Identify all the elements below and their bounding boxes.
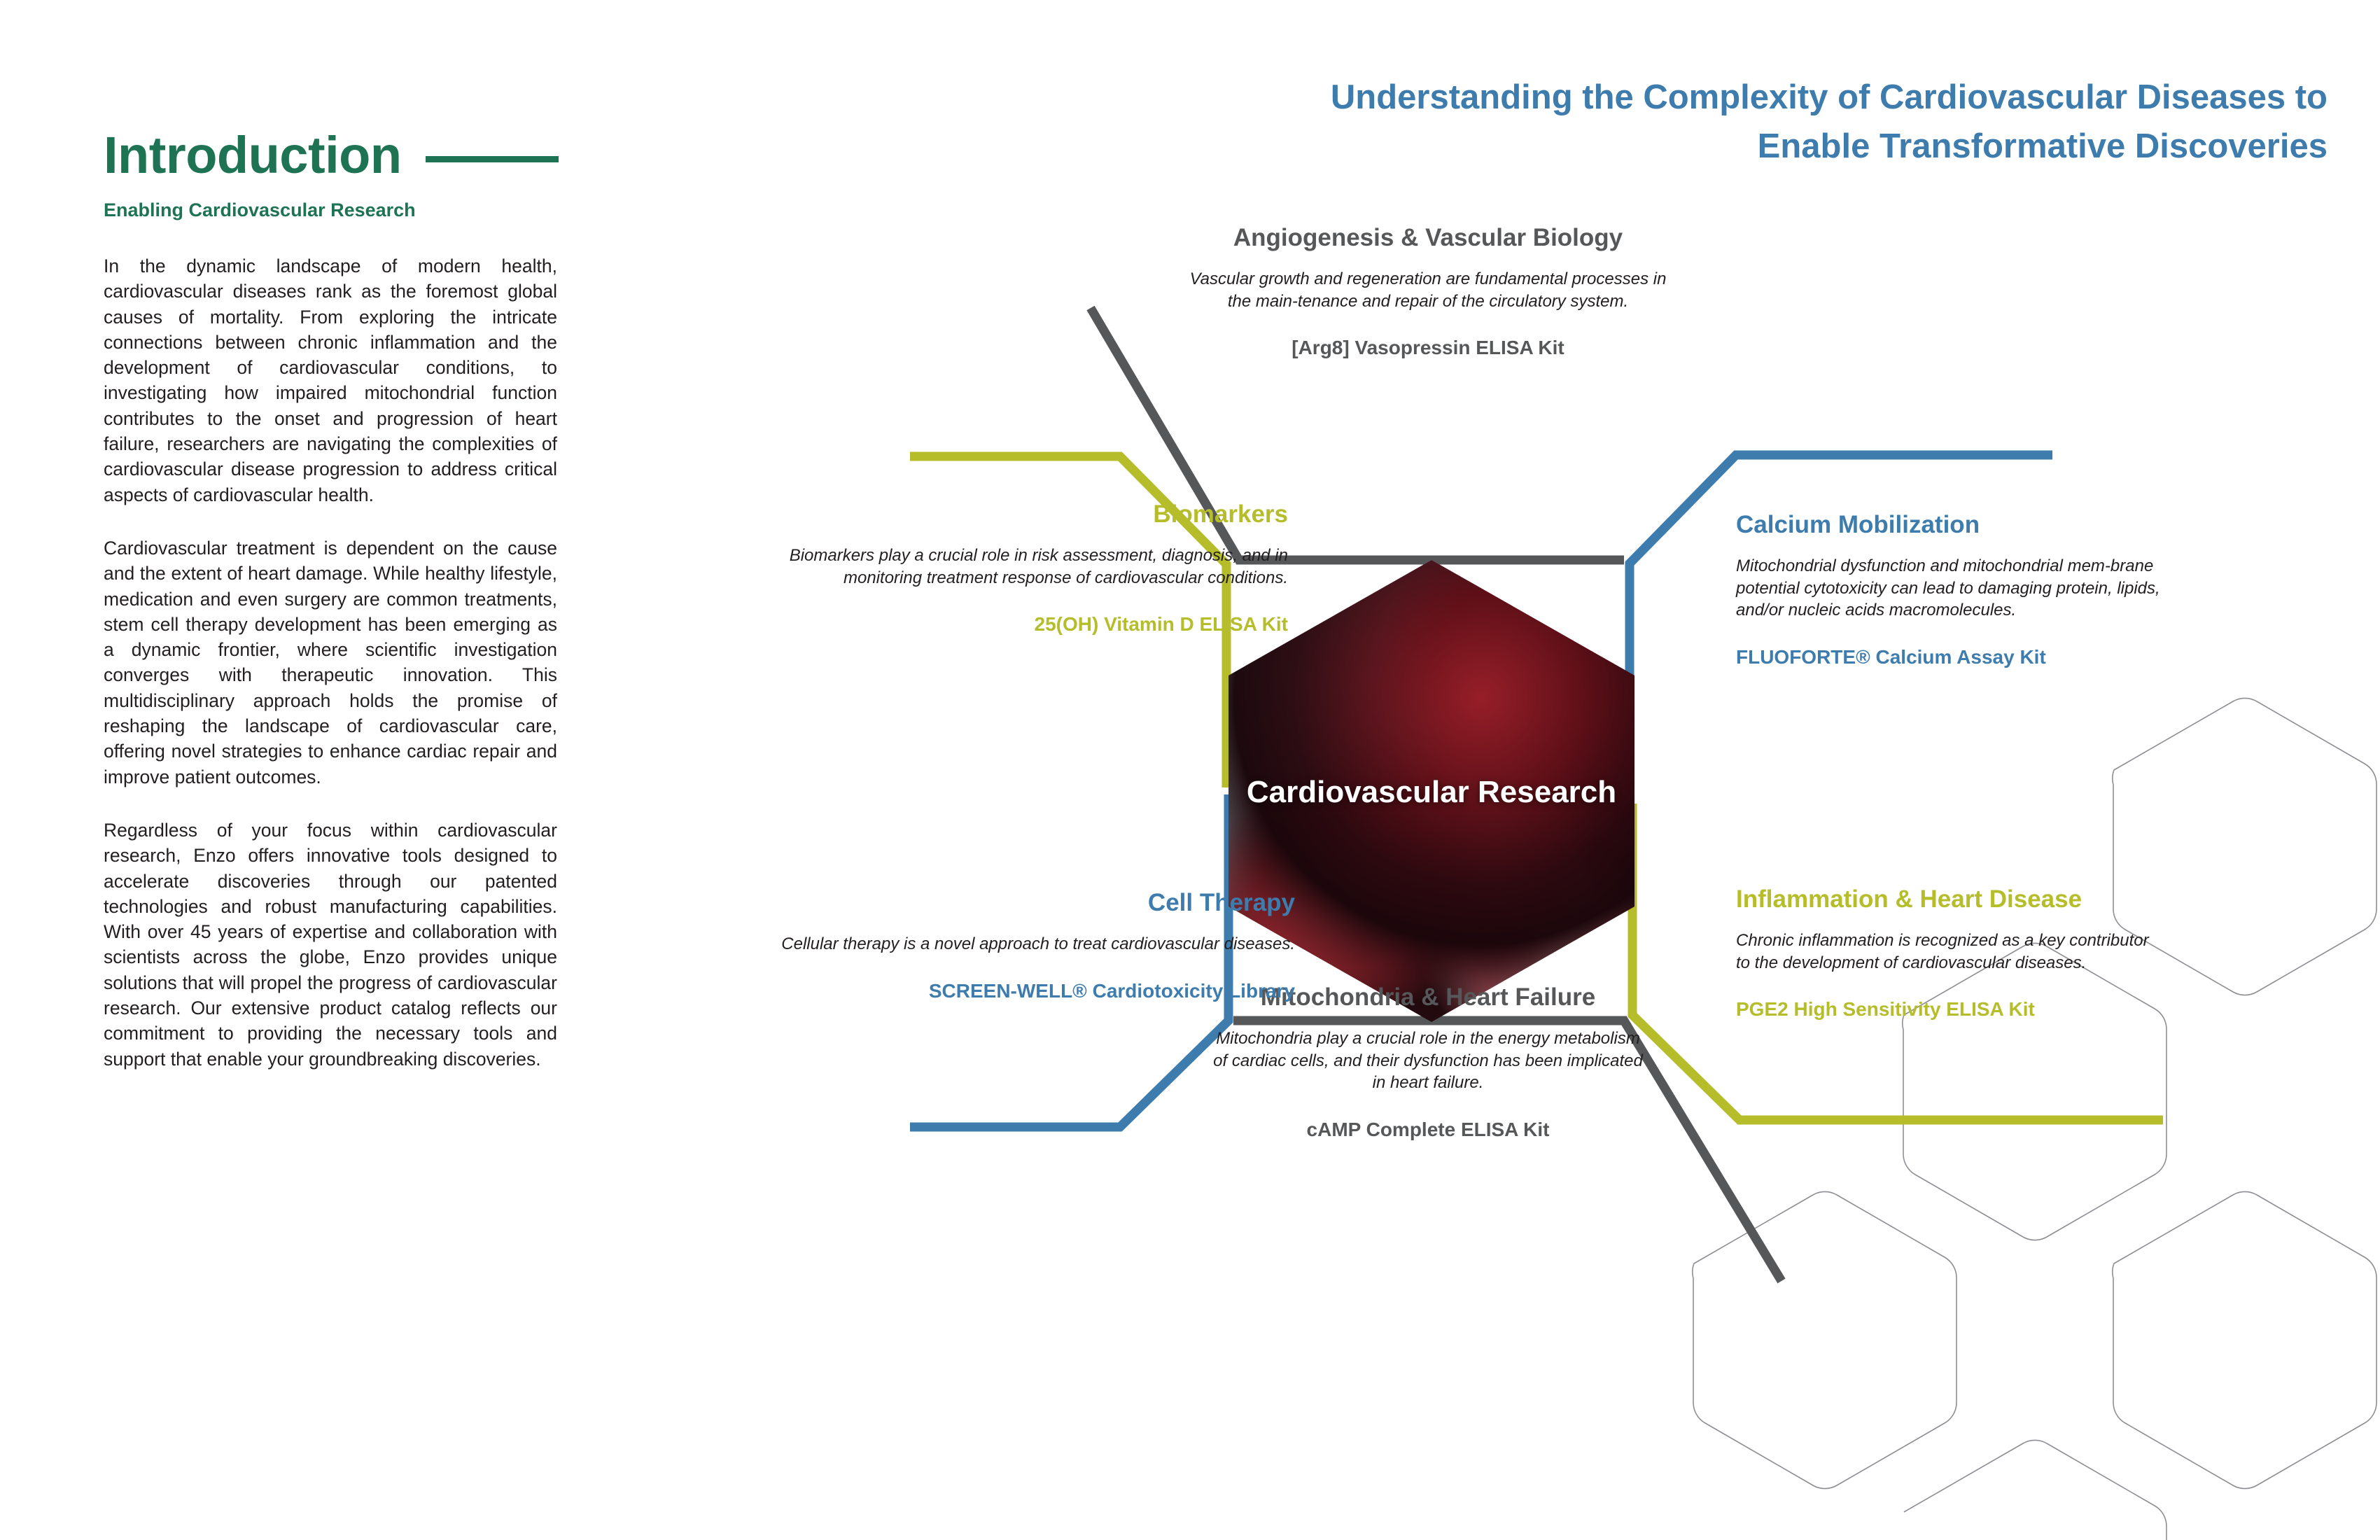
diagram-node-cell-therapy: Cell Therapy Cellular therapy is a novel… [756, 889, 1295, 1002]
introduction-paragraph: Cardiovascular treatment is dependent on… [104, 535, 557, 790]
introduction-title-row: Introduction [104, 129, 557, 181]
node-title: Inflammation & Heart Disease [1736, 885, 2156, 914]
node-title: Cell Therapy [756, 889, 1295, 918]
central-hexagon-label: Cardiovascular Research [1228, 774, 1634, 811]
page-title: Introduction [104, 129, 402, 181]
introduction-column: Introduction Enabling Cardiovascular Res… [104, 129, 557, 1072]
diagram-node-calcium-mobilization: Calcium Mobilization Mitochondrial dysfu… [1736, 511, 2170, 669]
node-description: Mitochondrial dysfunction and mitochondr… [1736, 555, 2170, 622]
node-title: Biomarkers [735, 500, 1288, 529]
diagram-node-mitochondria-heart-failure: Mitochondria & Heart Failure Mitochondri… [1211, 983, 1645, 1142]
node-description: Chronic inflammation is recognized as a … [1736, 930, 2156, 974]
node-product[interactable]: PGE2 High Sensitivity ELISA Kit [1736, 997, 2156, 1021]
diagram-node-biomarkers: Biomarkers Biomarkers play a crucial rol… [735, 500, 1288, 636]
node-product[interactable]: [Arg8] Vasopressin ELISA Kit [1183, 336, 1673, 360]
node-title: Calcium Mobilization [1736, 511, 2170, 540]
introduction-paragraph: Regardless of your focus within cardiova… [104, 818, 557, 1072]
diagram-node-angiogenesis: Angiogenesis & Vascular Biology Vascular… [1183, 224, 1673, 360]
watermark-hexagon [1904, 1440, 2166, 1540]
headline: Understanding the Complexity of Cardiova… [1235, 73, 2327, 171]
node-product[interactable]: SCREEN-WELL® Cardiotoxicity Library [756, 979, 1295, 1003]
node-description: Mitochondria play a crucial role in the … [1211, 1028, 1645, 1094]
cardiovascular-research-diagram: Cardiovascular Research Angiogenesis & V… [910, 231, 2240, 1421]
node-product[interactable]: cAMP Complete ELISA Kit [1211, 1118, 1645, 1142]
diagram-node-inflammation-heart-disease: Inflammation & Heart Disease Chronic inf… [1736, 885, 2156, 1021]
node-product[interactable]: 25(OH) Vitamin D ELISA Kit [735, 612, 1288, 636]
node-title: Angiogenesis & Vascular Biology [1183, 224, 1673, 253]
node-description: Cellular therapy is a novel approach to … [756, 933, 1295, 955]
introduction-paragraph: In the dynamic landscape of modern healt… [104, 253, 557, 507]
title-rule [426, 156, 559, 162]
introduction-subtitle: Enabling Cardiovascular Research [104, 199, 557, 221]
node-description: Vascular growth and regeneration are fun… [1183, 268, 1673, 312]
node-product[interactable]: FLUOFORTE® Calcium Assay Kit [1736, 645, 2170, 669]
node-description: Biomarkers play a crucial role in risk a… [735, 545, 1288, 589]
